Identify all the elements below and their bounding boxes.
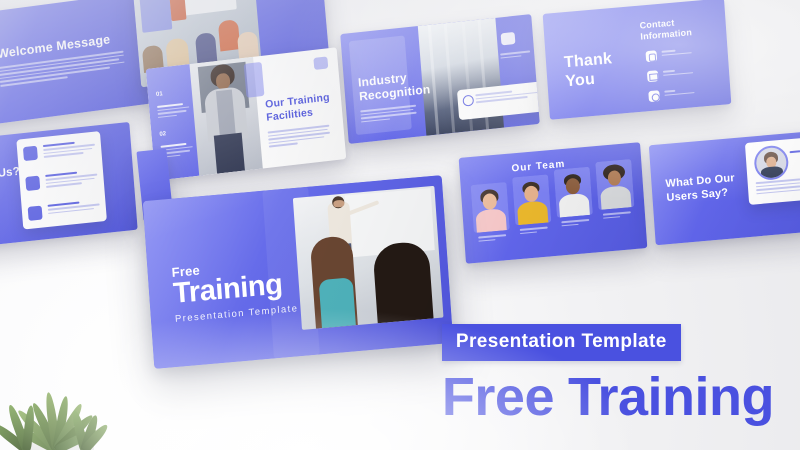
feature-icon <box>23 146 38 161</box>
team-member-caption <box>561 219 589 229</box>
contact-lines <box>661 48 691 58</box>
team-member[interactable] <box>471 182 510 233</box>
slide-title: Choose Us? <box>0 166 20 186</box>
contact-lines <box>664 88 694 98</box>
team-member[interactable] <box>554 167 593 218</box>
team-member-caption <box>478 234 506 244</box>
slide-training-facilities[interactable]: 01 02 Our Training Facilities <box>146 47 347 180</box>
team-member[interactable] <box>595 159 634 210</box>
feature-lines <box>43 140 96 160</box>
feature-lines <box>45 170 98 190</box>
audience-person-right <box>372 241 433 324</box>
feature-item[interactable] <box>28 206 43 221</box>
slide-thank-you[interactable]: Thank You Contact Information <box>543 0 732 120</box>
hero-title-word-2: Training <box>568 367 774 427</box>
contact-lines <box>663 68 693 78</box>
feature-item[interactable] <box>23 146 38 161</box>
card-lines <box>475 88 538 105</box>
award-icon <box>501 32 516 45</box>
feature-item[interactable] <box>25 176 40 191</box>
mail-icon <box>647 70 659 82</box>
feature-lines <box>48 199 101 216</box>
badge-lines <box>500 50 530 60</box>
thank-you-line-1: Thank <box>564 50 613 72</box>
team-member-caption <box>603 211 631 221</box>
slide-welcome-message[interactable]: Welcome Message <box>0 0 155 129</box>
body-text-lines <box>268 125 331 150</box>
phone-icon <box>645 50 657 62</box>
thank-you-line-2: You <box>565 71 596 91</box>
hero-title-word-1: Free <box>442 367 554 427</box>
slide-industry-recognition[interactable]: Industry Recognition <box>340 14 540 144</box>
side-item-number-2: 02 <box>159 131 170 141</box>
photo-main-training <box>293 186 444 330</box>
web-icon <box>648 90 660 102</box>
slide-our-team[interactable]: Our Team <box>459 142 648 264</box>
slide-main-cover[interactable]: Free Training Presentation Template <box>143 175 454 369</box>
card-icon <box>462 95 474 107</box>
promo-scene: Welcome Message <box>0 0 800 450</box>
hero-title: FreeTraining <box>442 370 774 424</box>
slide-title-line-2: Facilities <box>266 107 314 124</box>
cover-text-block: Free Training Presentation Template <box>171 254 299 325</box>
team-member[interactable] <box>512 174 551 225</box>
slide-why-choose-us[interactable]: Choose Us? <box>0 122 138 250</box>
body-text-lines <box>0 186 1 202</box>
feature-icon <box>28 206 43 221</box>
team-member-caption <box>520 227 548 237</box>
feature-icon <box>25 176 40 191</box>
feature-card[interactable] <box>16 131 107 230</box>
testimonial-avatar <box>753 144 789 181</box>
testimonial-name-lines <box>790 147 800 155</box>
accent-chip-small <box>313 56 328 70</box>
hero-text-block: Presentation Template FreeTraining <box>442 324 774 424</box>
accent-chip <box>244 62 265 98</box>
hero-badge: Presentation Template <box>442 324 681 361</box>
side-item-number-1: 01 <box>156 91 167 101</box>
slide-testimonials[interactable]: What Do Our Users Say? <box>649 131 800 245</box>
testimonial-card[interactable] <box>745 135 800 205</box>
decor-plant <box>0 350 138 450</box>
